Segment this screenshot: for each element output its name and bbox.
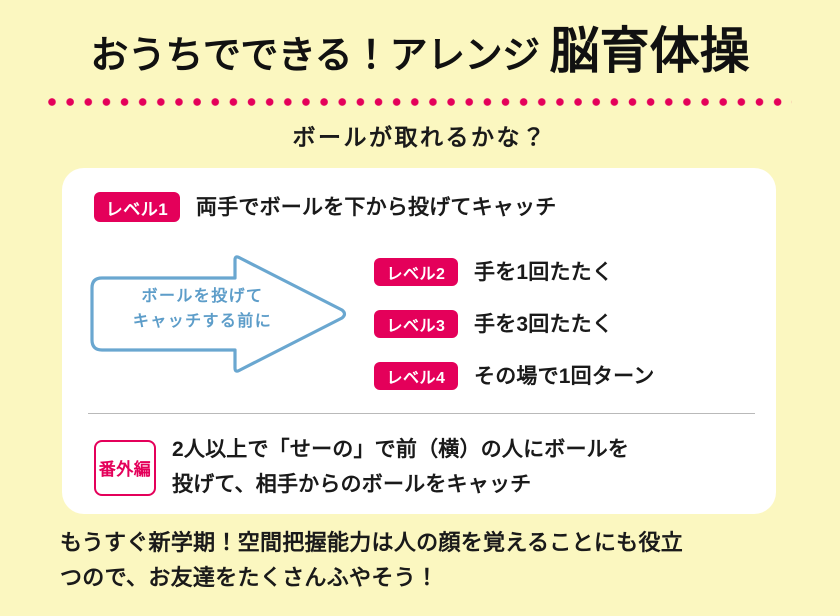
level-3-row: レベル3 手を3回たたく	[374, 310, 654, 338]
bonus-text-line-1: 2人以上で「せーの」で前（横）の人にボールを	[172, 434, 629, 467]
blue-arrow: ボールを投げて キャッチする前に	[88, 254, 348, 374]
footer-note: もうすぐ新学期！空間把握能力は人の顔を覚えることにも役立 つので、お友達をたくさ…	[60, 526, 790, 595]
level-3-badge: レベル3	[374, 310, 458, 338]
dotted-divider	[48, 98, 792, 107]
level-1-text: 両手でボールを下から投げてキャッチ	[196, 197, 556, 218]
level-3-text: 手を3回たたく	[474, 314, 613, 335]
page-title: おうちでできる！アレンジ脳育体操	[0, 26, 840, 76]
page-title-big: 脳育体操	[550, 23, 750, 79]
level-2-badge: レベル2	[374, 258, 458, 286]
card-divider	[88, 413, 755, 414]
level-1-badge: レベル1	[94, 192, 180, 222]
bonus-text-line-2: 投げて、相手からのボールをキャッチ	[172, 469, 629, 502]
footer-line-1: もうすぐ新学期！空間把握能力は人の顔を覚えることにも役立	[60, 526, 790, 560]
arrow-label: ボールを投げて キャッチする前に	[110, 285, 295, 335]
bonus-row: 番外編 2人以上で「せーの」で前（横）の人にボールを 投げて、相手からのボールを…	[94, 434, 629, 501]
level-2-text: 手を1回たたく	[474, 262, 613, 283]
arrow-label-line-1: ボールを投げて	[110, 285, 295, 310]
section-subtitle: ボールが取れるかな？	[0, 126, 840, 149]
level-4-text: その場で1回ターン	[474, 366, 654, 387]
arrow-label-line-2: キャッチする前に	[110, 310, 295, 335]
level-2-row: レベル2 手を1回たたく	[374, 258, 654, 286]
bonus-badge: 番外編	[94, 440, 156, 496]
header: おうちでできる！アレンジ脳育体操	[0, 0, 840, 118]
page-title-small: おうちでできる！アレンジ	[90, 35, 539, 77]
bonus-text: 2人以上で「せーの」で前（横）の人にボールを 投げて、相手からのボールをキャッチ	[172, 434, 629, 501]
instructions-card: レベル1 両手でボールを下から投げてキャッチ ボールを投げて キャッチする前に …	[62, 168, 776, 514]
footer-line-2: つので、お友達をたくさんふやそう！	[60, 561, 790, 595]
level-4-row: レベル4 その場で1回ターン	[374, 362, 654, 390]
level-4-badge: レベル4	[374, 362, 458, 390]
level-1-row: レベル1 両手でボールを下から投げてキャッチ	[94, 192, 556, 222]
level-list: レベル2 手を1回たたく レベル3 手を3回たたく レベル4 その場で1回ターン	[374, 258, 654, 390]
